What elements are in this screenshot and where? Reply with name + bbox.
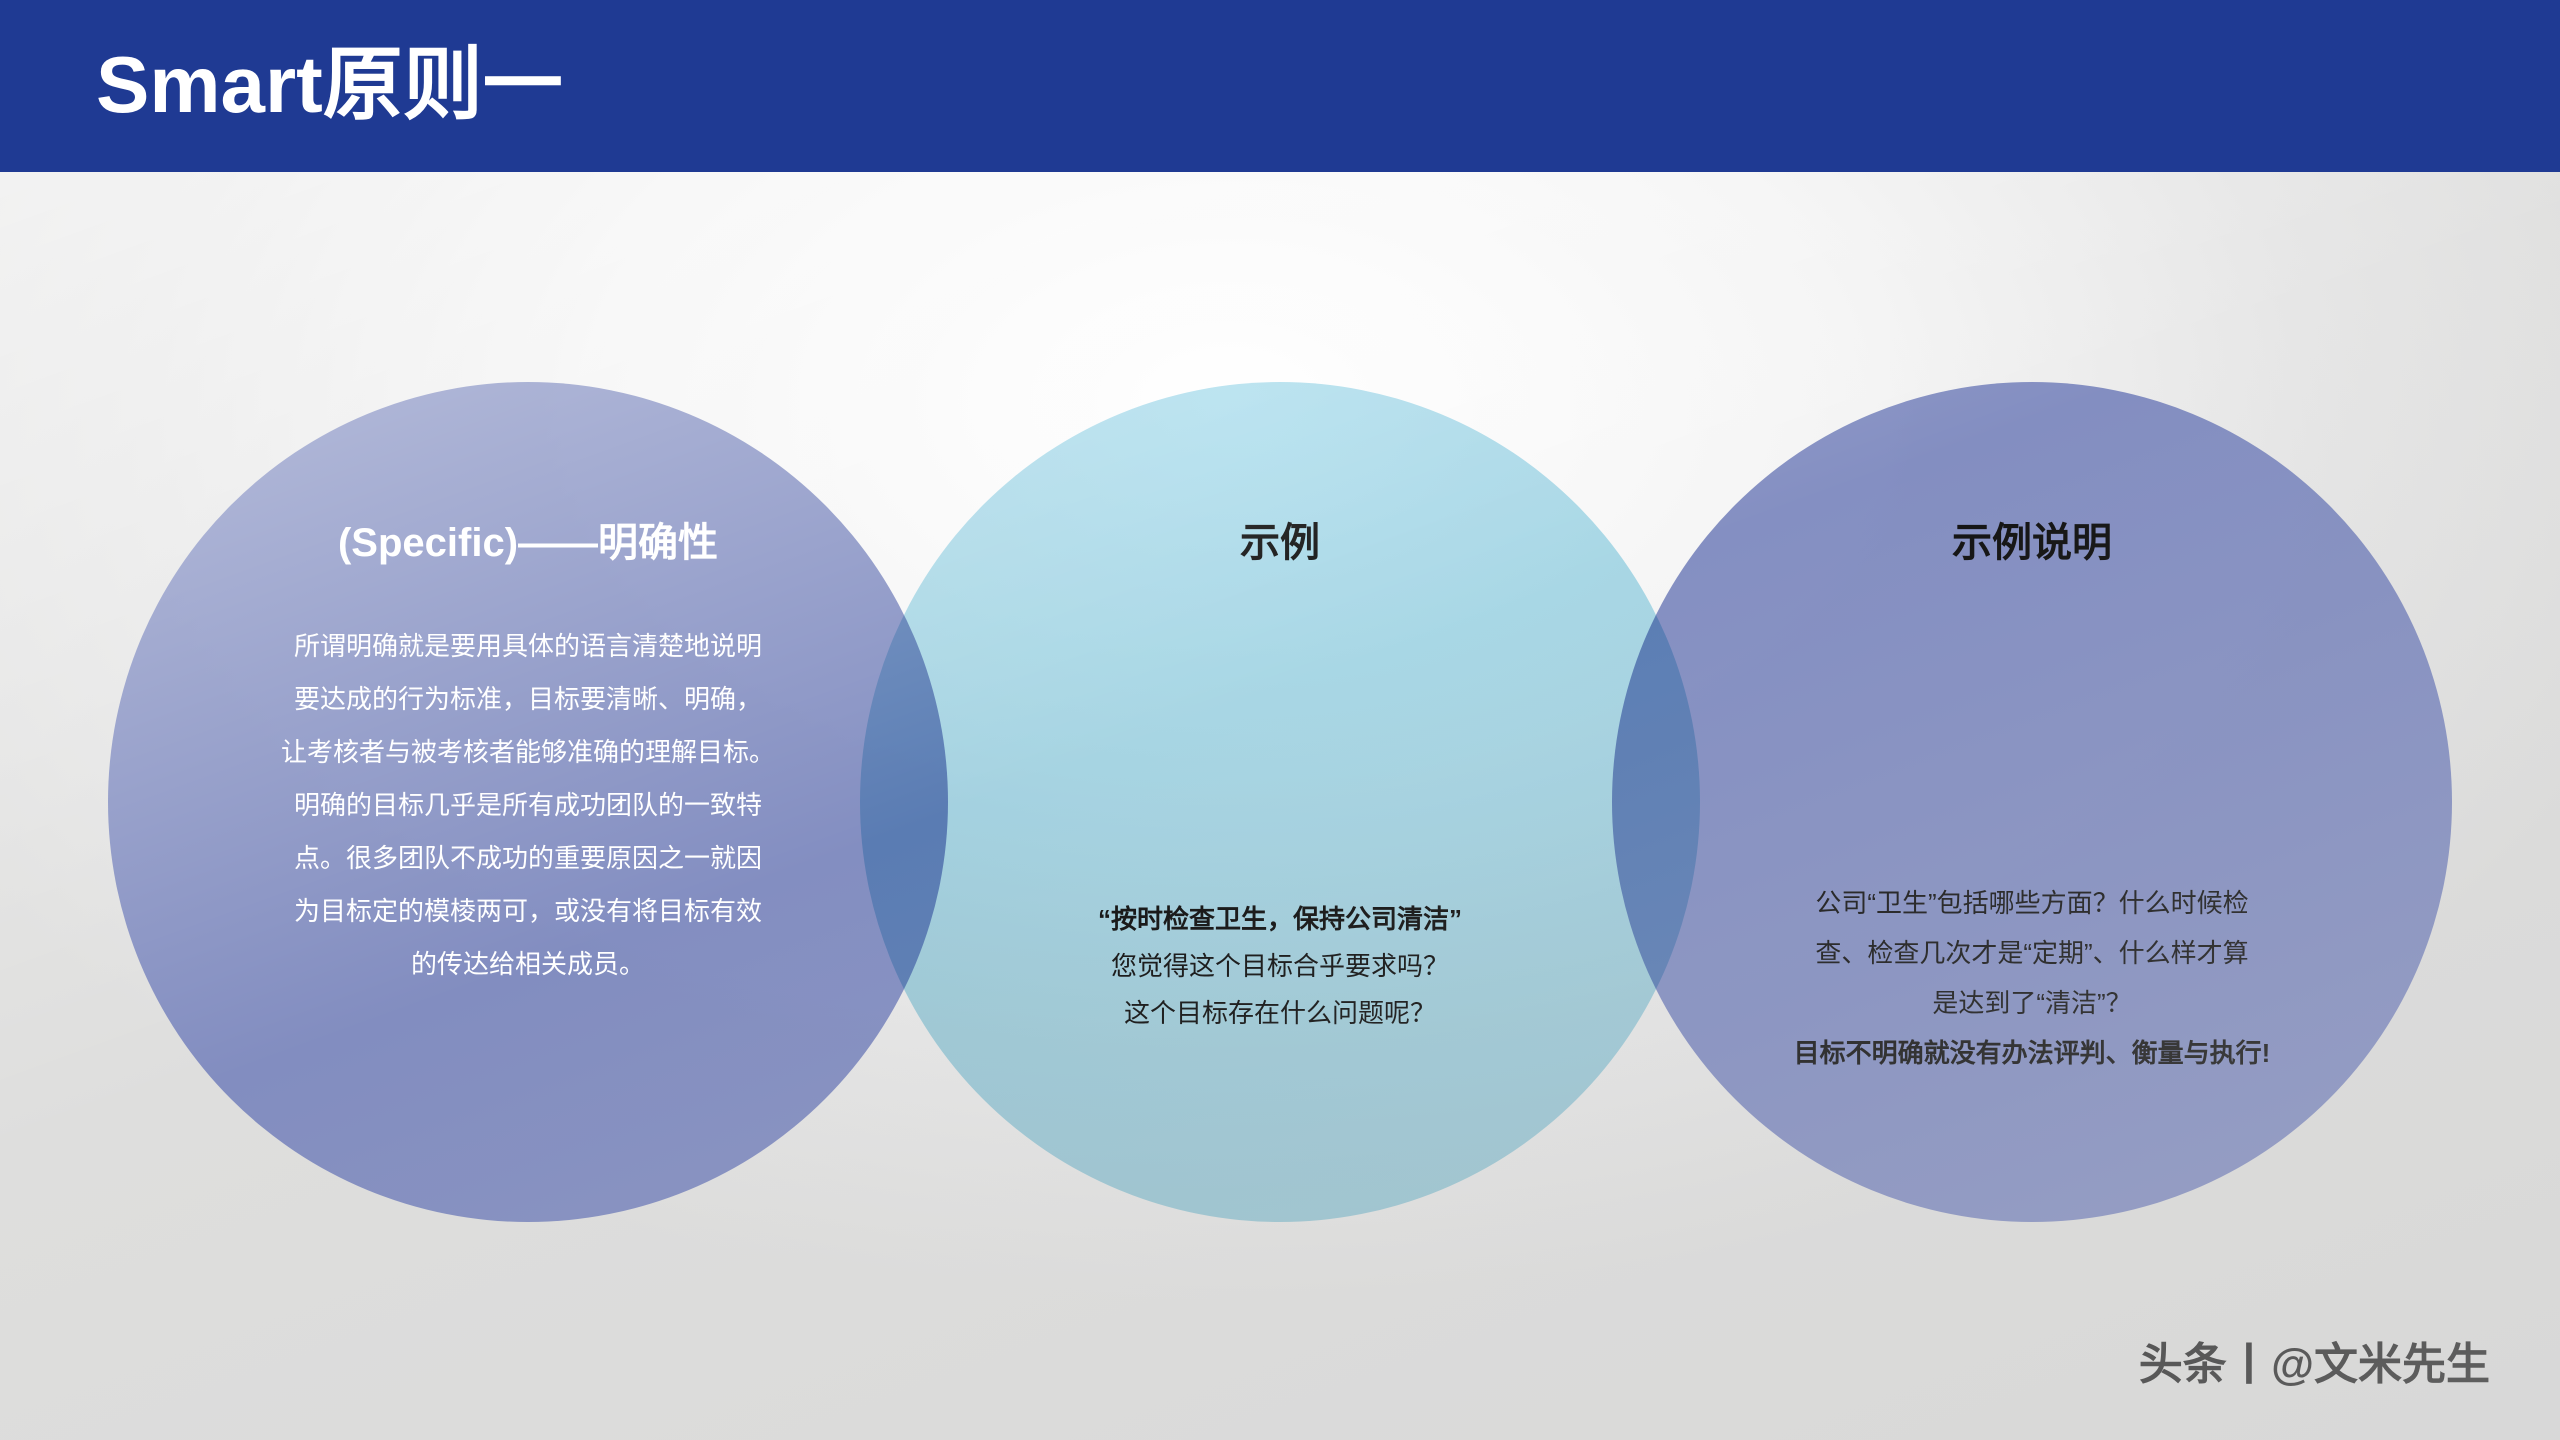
watermark: 头条 | @文米先生 (2139, 1328, 2490, 1392)
example-explanation-circle-body: 公司“卫生”包括哪些方面？什么时候检 查、检查几次才是“定期”、什么样才算 是达… (1658, 878, 2406, 1078)
body-line: 这个目标存在什么问题呢？ (920, 990, 1640, 1037)
slide-canvas: (Specific)——明确性 所谓明确就是要用具体的语言清楚地说明 要达成的行… (0, 172, 2560, 1440)
watermark-separator: | (2243, 1335, 2255, 1385)
header-band: Smart原则一 (0, 0, 2560, 172)
specific-circle-content: (Specific)——明确性 所谓明确就是要用具体的语言清楚地说明 要达成的行… (108, 382, 948, 1222)
example-explanation-circle-title: 示例说明 (1612, 510, 2452, 568)
specific-circle-title: (Specific)——明确性 (108, 510, 948, 568)
watermark-source: 头条 (2139, 1328, 2227, 1392)
specific-circle-body: 所谓明确就是要用具体的语言清楚地说明 要达成的行为标准，目标要清晰、明确， 让考… (154, 620, 902, 991)
slide: Smart原则一 (Specific)——明确性 所谓明确就是要用具体的语言清楚… (0, 0, 2560, 1440)
body-line: 是达到了“清洁”？ (1658, 978, 2406, 1028)
body-line: 公司“卫生”包括哪些方面？什么时候检 (1658, 878, 2406, 928)
page-title: Smart原则一 (96, 20, 563, 150)
body-line: 的传达给相关成员。 (154, 938, 902, 991)
body-line: 点。很多团队不成功的重要原因之一就因 (154, 832, 902, 885)
body-line: 让考核者与被考核者能够准确的理解目标。 (154, 726, 902, 779)
body-line: 您觉得这个目标合乎要求吗？ (920, 943, 1640, 990)
example-circle-title: 示例 (860, 510, 1700, 568)
body-line: 要达成的行为标准，目标要清晰、明确， (154, 673, 902, 726)
body-line: “按时检查卫生，保持公司清洁” (920, 896, 1640, 943)
body-line: 查、检查几次才是“定期”、什么样才算 (1658, 928, 2406, 978)
example-explanation-circle-content: 示例说明 公司“卫生”包括哪些方面？什么时候检 查、检查几次才是“定期”、什么样… (1612, 382, 2452, 1222)
body-line: 明确的目标几乎是所有成功团队的一致特 (154, 779, 902, 832)
watermark-author: @文米先生 (2271, 1328, 2490, 1392)
example-circle-body: “按时检查卫生，保持公司清洁” 您觉得这个目标合乎要求吗？ 这个目标存在什么问题… (920, 896, 1640, 1037)
body-line: 目标不明确就没有办法评判、衡量与执行! (1658, 1028, 2406, 1078)
body-line: 为目标定的模棱两可，或没有将目标有效 (154, 885, 902, 938)
body-line: 所谓明确就是要用具体的语言清楚地说明 (154, 620, 902, 673)
example-circle-content: 示例 “按时检查卫生，保持公司清洁” 您觉得这个目标合乎要求吗？ 这个目标存在什… (860, 382, 1700, 1222)
